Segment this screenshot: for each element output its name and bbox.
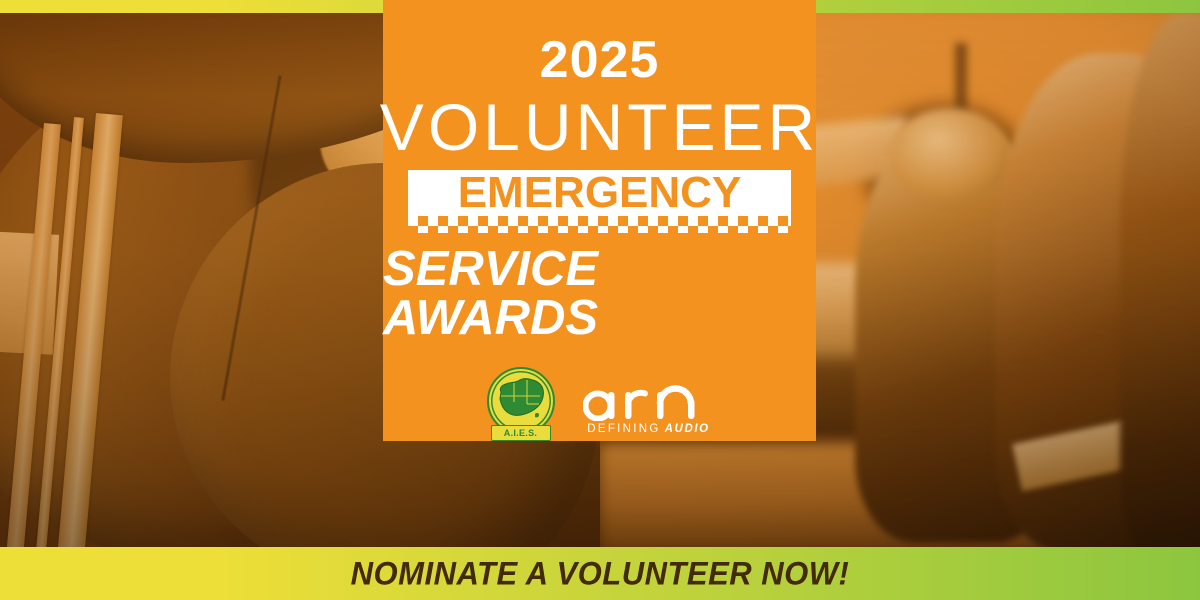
logo-row: A.I.E.S. xyxy=(485,367,715,441)
arn-wordmark-icon xyxy=(583,373,715,421)
arn-tagline-light: DEFINING xyxy=(587,423,660,435)
checker-strip xyxy=(408,216,791,234)
award-title-card: 2025 VOLUNTEER EMERGENCY SERVICE AWARDS … xyxy=(383,0,816,441)
arn-wordmark xyxy=(583,373,715,421)
service-awards-heading: SERVICE AWARDS xyxy=(383,245,816,343)
arn-tagline-bold: AUDIO xyxy=(665,423,710,435)
arn-tagline: DEFINING AUDIO xyxy=(587,423,709,435)
aies-ribbon-text: A.I.E.S. xyxy=(504,428,537,438)
australia-map-icon xyxy=(494,374,548,422)
aies-ribbon: A.I.E.S. xyxy=(491,425,551,441)
emergency-heading: EMERGENCY xyxy=(458,171,742,215)
bottom-cta-band: NOMINATE A VOLUNTEER NOW! xyxy=(0,547,1200,600)
aies-logo[interactable]: A.I.E.S. xyxy=(485,367,557,441)
nominate-cta-text[interactable]: NOMINATE A VOLUNTEER NOW! xyxy=(351,555,850,592)
emergency-white-band: EMERGENCY xyxy=(408,170,791,216)
promotional-banner: 2025 VOLUNTEER EMERGENCY SERVICE AWARDS … xyxy=(0,0,1200,600)
year-heading: 2025 xyxy=(540,34,660,86)
volunteer-heading: VOLUNTEER xyxy=(380,94,819,160)
arn-logo[interactable]: DEFINING AUDIO xyxy=(583,373,715,435)
